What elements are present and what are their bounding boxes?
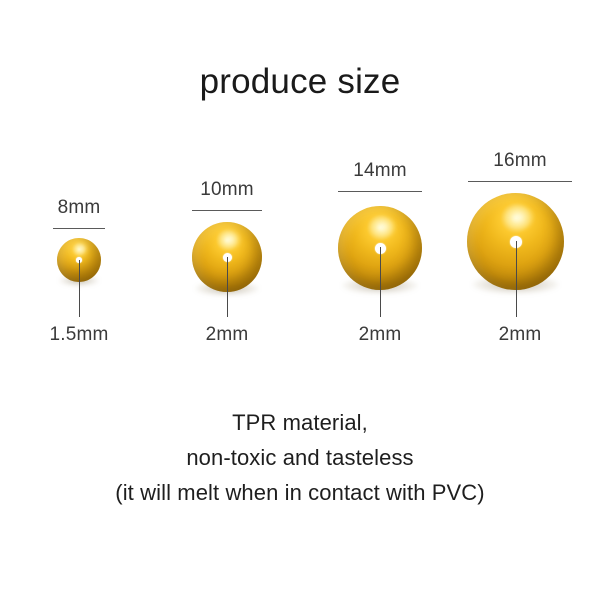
footer-line-warning: (it will melt when in contact with PVC)	[0, 475, 600, 510]
ball-highlight	[74, 243, 87, 254]
ball-highlight	[370, 216, 395, 238]
hole-label: 1.5mm	[22, 324, 136, 346]
size-group-14mm: 14mm 2mm	[320, 0, 440, 600]
diameter-label: 8mm	[22, 197, 136, 219]
hole-label: 2mm	[163, 324, 291, 346]
product-size-infographic: { "title": "produce size", "colors": { "…	[0, 0, 600, 600]
size-group-16mm: 16mm 2mm	[455, 0, 585, 600]
hole-leader-line	[227, 257, 228, 317]
hole-label: 2mm	[320, 324, 440, 346]
footer-note: TPR material, non-toxic and tasteless (i…	[0, 405, 600, 510]
diameter-label: 14mm	[320, 160, 440, 182]
size-group-8mm: 8mm 1.5mm	[22, 0, 136, 600]
diameter-label: 10mm	[163, 179, 291, 201]
footer-line-material: TPR material,	[0, 405, 600, 440]
diameter-label: 16mm	[455, 150, 585, 172]
hole-leader-line	[380, 247, 381, 317]
size-group-10mm: 10mm 2mm	[163, 0, 291, 600]
ball-highlight	[504, 205, 533, 230]
hole-label: 2mm	[455, 324, 585, 346]
footer-line-safety: non-toxic and tasteless	[0, 440, 600, 475]
ball-highlight	[219, 230, 240, 248]
hole-leader-line	[79, 260, 80, 317]
hole-leader-line	[516, 241, 517, 317]
